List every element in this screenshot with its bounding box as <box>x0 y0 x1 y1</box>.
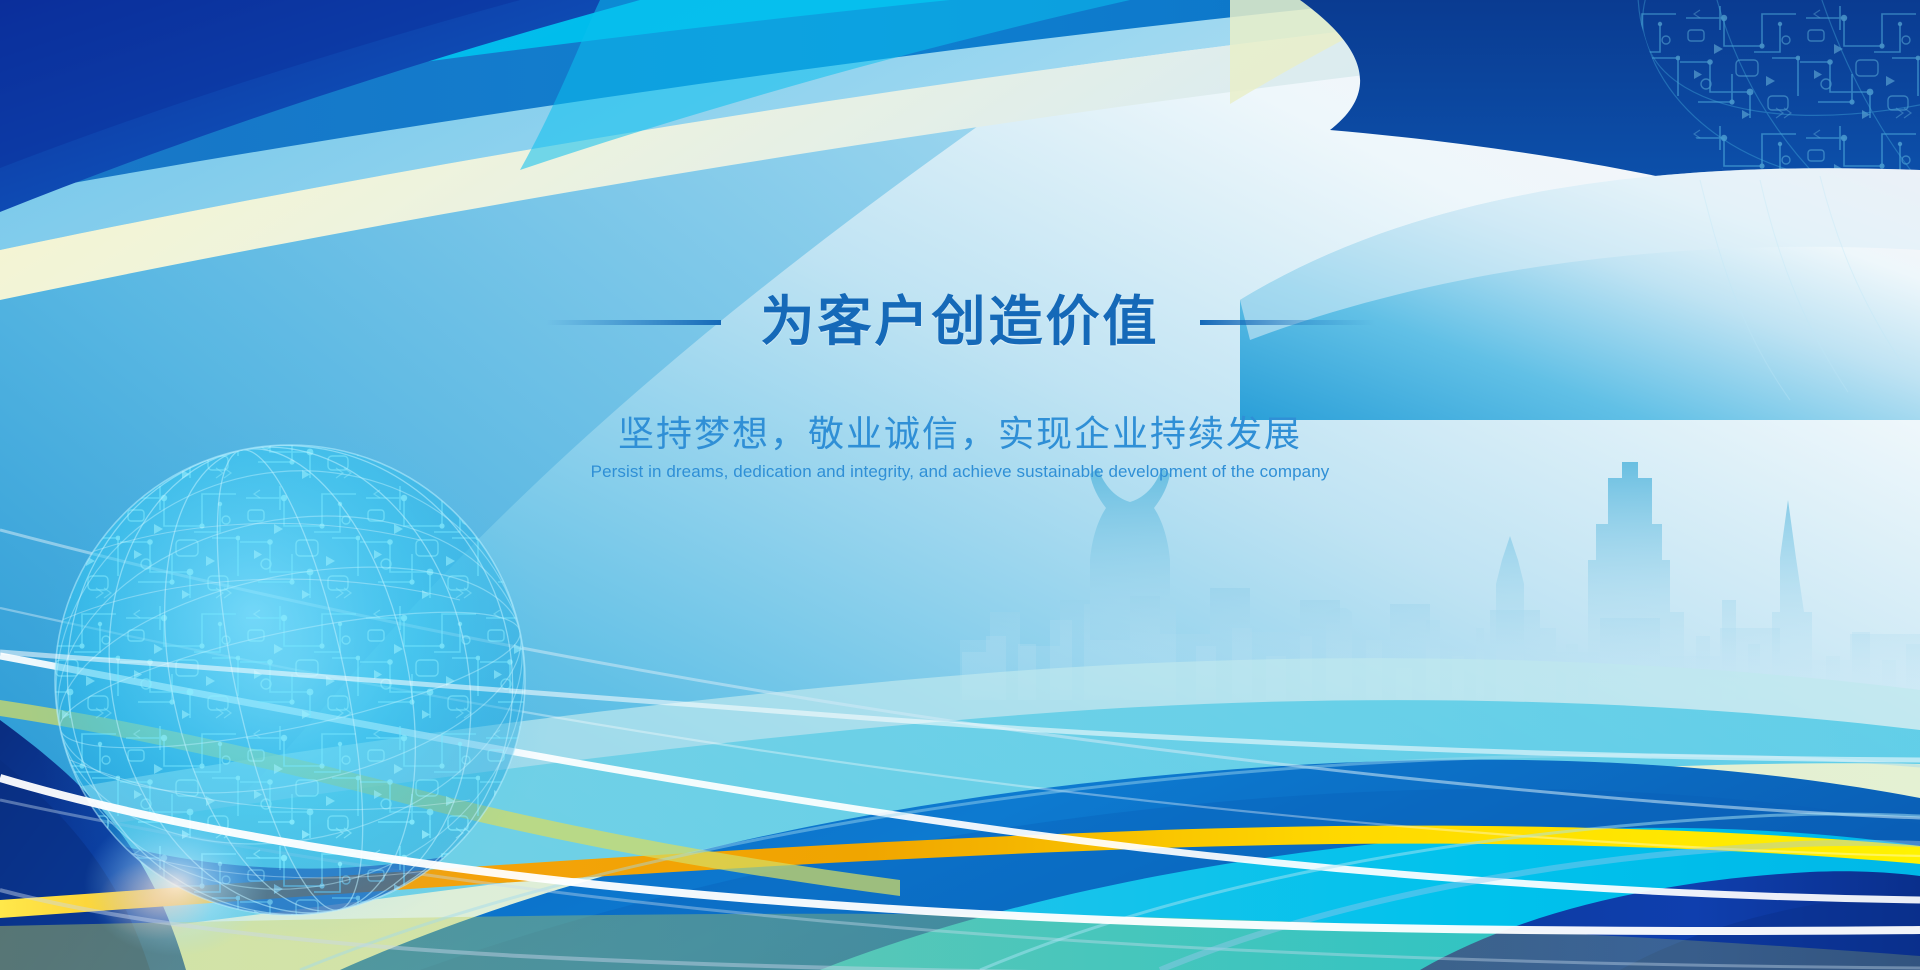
background-artwork <box>0 0 1920 970</box>
corporate-banner: 为客户创造价值 坚持梦想，敬业诚信，实现企业持续发展 Persist in dr… <box>0 0 1920 970</box>
